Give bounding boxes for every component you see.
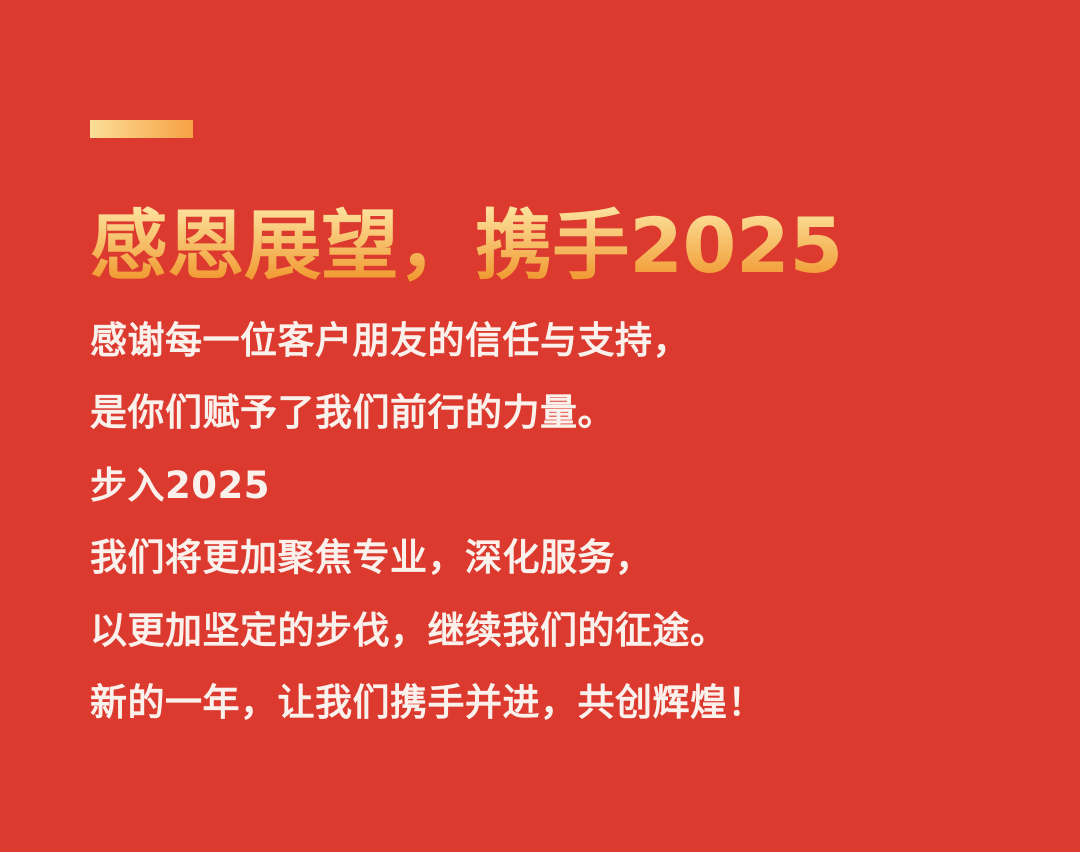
poster-canvas: 感恩展望，携手2025 感谢每一位客户朋友的信任与支持， 是你们赋予了我们前行的… bbox=[0, 0, 1080, 852]
copy-line: 感谢每一位客户朋友的信任与支持， bbox=[90, 322, 990, 360]
copy-line: 步入2025 bbox=[90, 467, 990, 505]
copy-line: 是你们赋予了我们前行的力量。 bbox=[90, 394, 990, 432]
copy-line: 我们将更加聚焦专业，深化服务， bbox=[90, 539, 990, 577]
body-copy-block: 感谢每一位客户朋友的信任与支持， 是你们赋予了我们前行的力量。 步入2025 我… bbox=[90, 322, 990, 723]
accent-bar-decoration bbox=[90, 120, 193, 138]
copy-line: 新的一年，让我们携手并进，共创辉煌！ bbox=[90, 684, 990, 722]
copy-line: 以更加坚定的步伐，继续我们的征途。 bbox=[90, 612, 990, 650]
page-title: 感恩展望，携手2025 bbox=[90, 206, 843, 287]
